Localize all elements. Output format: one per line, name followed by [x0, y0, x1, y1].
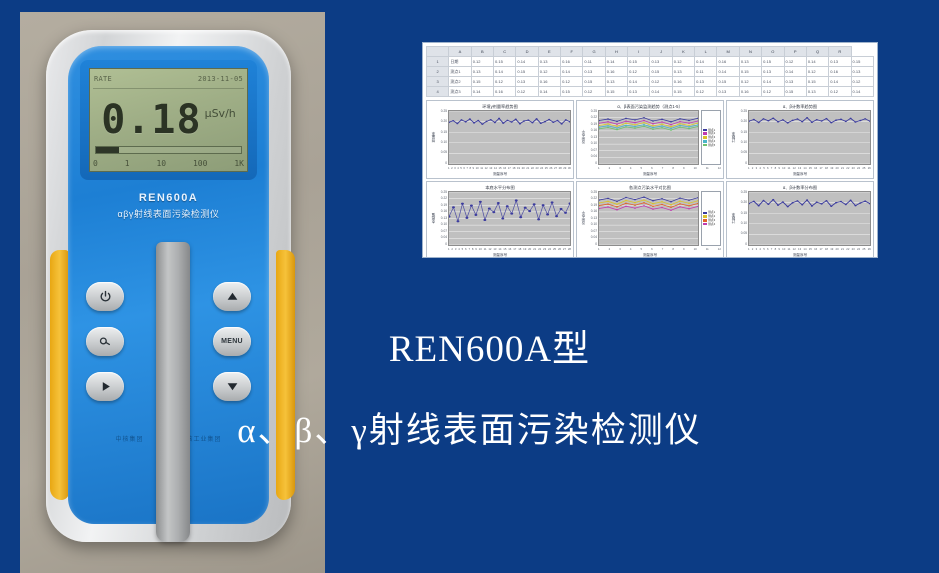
table-cell[interactable]: 0.16	[538, 77, 560, 87]
data-point	[772, 199, 774, 201]
table-cell[interactable]: 0.15	[739, 67, 761, 77]
table-cell[interactable]: 0.16	[739, 87, 761, 97]
data-point	[679, 203, 681, 205]
device-photo: RATE 2013-11-05 0.18 μSv/h 0 1 10 100 1K	[20, 12, 325, 573]
chart-panel-chart-3[interactable]: α、β计数率趋势图计数率0.250.200.150.100.0501234567…	[726, 100, 874, 179]
data-point	[607, 125, 609, 127]
y-tick-label: 0.05	[436, 151, 447, 154]
table-cell[interactable]: 0.12	[583, 87, 605, 97]
data-point	[840, 201, 842, 203]
power-icon	[99, 290, 112, 303]
series-line	[749, 200, 870, 207]
table-cell[interactable]: 0.15	[628, 57, 650, 67]
table-cell[interactable]: 0.12	[784, 57, 806, 67]
data-point	[616, 121, 618, 123]
plot-area[interactable]	[448, 110, 571, 165]
data-point	[688, 126, 690, 128]
series-line	[599, 206, 698, 210]
y-tick-label: 0.16	[436, 210, 447, 213]
data-point	[544, 121, 546, 123]
table-cell[interactable]: 0.15	[672, 87, 694, 97]
lcd-scale-tick: 1	[125, 159, 130, 168]
data-point	[652, 128, 654, 130]
table-cell[interactable]: 0.15	[471, 77, 493, 87]
table-cell[interactable]: 测点1	[449, 67, 471, 77]
y-tick-label: 0.20	[436, 120, 447, 123]
data-point	[661, 201, 663, 203]
lcd-scale-tick: 10	[156, 159, 166, 168]
data-point	[540, 123, 542, 125]
table-cell[interactable]: 0.12	[516, 87, 538, 97]
data-point	[688, 208, 690, 210]
y-tick-label: 0.13	[586, 136, 597, 139]
column-header[interactable]: H	[605, 47, 627, 57]
page-title-model: REN600A型	[40, 318, 939, 372]
table-cell[interactable]: 0.14	[806, 57, 828, 67]
column-header[interactable]: B	[471, 47, 493, 57]
table-cell[interactable]: 0.13	[695, 77, 717, 87]
lcd-status-bar: RATE 2013-11-05	[94, 72, 243, 85]
table-cell[interactable]: 0.14	[605, 57, 627, 67]
data-point	[688, 124, 690, 126]
y-axis-title: 剂量率	[429, 110, 436, 165]
table-cell[interactable]: 0.15	[806, 77, 828, 87]
analysis-software-panel: ABCDEFGHIJKLMNOPQR 1日期0.120.150.140.130.…	[422, 42, 878, 258]
y-axis-ticks: 0.250.200.150.100.050	[436, 110, 448, 165]
table-cell[interactable]: 0.13	[628, 87, 650, 97]
y-tick-label: 0.25	[436, 191, 447, 194]
data-point	[506, 120, 508, 122]
data-point	[679, 197, 681, 199]
column-header[interactable]: O	[762, 47, 784, 57]
y-tick-label: 0.07	[436, 230, 447, 233]
table-cell[interactable]: 日期	[449, 57, 471, 67]
table-cell[interactable]: 0.13	[471, 67, 493, 77]
y-tick-label: 0.25	[436, 110, 447, 113]
nameplate-model: REN600A	[68, 192, 269, 204]
y-tick-label: 0.19	[586, 204, 597, 207]
y-tick-label: 0.20	[736, 120, 747, 123]
table-cell[interactable]: 0.14	[851, 87, 873, 97]
table-cell[interactable]: 0.14	[471, 87, 493, 97]
table-cell[interactable]: 0.14	[538, 87, 560, 97]
table-cell[interactable]: 0.16	[605, 67, 627, 77]
data-point	[811, 121, 813, 123]
column-header[interactable]: J	[650, 47, 672, 57]
chart-legend: 测点1测点2测点3测点4	[701, 191, 721, 246]
table-cell[interactable]: 0.14	[650, 87, 672, 97]
data-point	[599, 120, 600, 122]
data-point	[782, 201, 784, 203]
legend-item[interactable]: 测点4	[703, 223, 719, 226]
y-axis-title: 污染水平	[579, 110, 586, 165]
table-cell[interactable]: 0.11	[695, 67, 717, 77]
data-point	[670, 128, 672, 130]
data-point	[561, 123, 563, 125]
y-tick-label: 0.04	[436, 236, 447, 239]
table-cell[interactable]: 0.14	[762, 77, 784, 87]
y-tick-label: 0.16	[586, 210, 597, 213]
y-tick-label: 0.22	[586, 116, 597, 119]
table-cell[interactable]: 0.12	[628, 67, 650, 77]
data-point	[465, 217, 468, 219]
y-tick-label: 0.15	[736, 212, 747, 215]
table-cell[interactable]: 0.15	[583, 77, 605, 87]
column-header[interactable]: C	[494, 47, 516, 57]
data-point	[479, 201, 482, 203]
y-axis-ticks: 0.250.220.190.160.130.100.070.040	[586, 191, 598, 246]
data-point	[449, 216, 450, 218]
table-cell[interactable]: 0.16	[717, 57, 739, 67]
data-point	[474, 214, 477, 216]
table-cell[interactable]: 0.15	[717, 77, 739, 87]
legend-swatch-icon	[703, 136, 707, 139]
y-tick-label: 0.04	[586, 236, 597, 239]
y-tick-label: 0.19	[436, 204, 447, 207]
data-point	[599, 126, 600, 128]
legend-item[interactable]: 测点5	[703, 144, 719, 147]
data-point	[816, 119, 818, 121]
table-cell[interactable]: 0.15	[784, 87, 806, 97]
data-point	[560, 208, 563, 210]
table-cell[interactable]: 0.12	[561, 77, 583, 87]
data-point	[753, 201, 755, 203]
lcd-bargraph-fill	[96, 147, 119, 153]
column-header[interactable]: R	[829, 47, 851, 57]
plot-area[interactable]	[748, 110, 871, 165]
y-tick-label: 0.20	[736, 201, 747, 204]
data-point	[461, 203, 464, 205]
column-header[interactable]: K	[672, 47, 694, 57]
data-point	[670, 124, 672, 126]
data-point	[679, 118, 681, 120]
y-tick-label: 0.05	[736, 151, 747, 154]
y-axis-title: 污染水平	[579, 191, 586, 246]
data-point	[787, 206, 789, 208]
y-tick-label: 0.13	[436, 217, 447, 220]
data-point	[652, 200, 654, 202]
data-point	[782, 119, 784, 121]
data-point	[542, 204, 545, 206]
table-cell[interactable]: 测点2	[449, 77, 471, 87]
legend-swatch-icon	[703, 129, 707, 132]
y-axis-title: 计数率	[729, 191, 736, 246]
lcd-mode-label: RATE	[94, 75, 112, 83]
data-point	[460, 119, 462, 121]
data-point	[679, 126, 681, 128]
row-header[interactable]: 2	[427, 67, 449, 77]
table-cell[interactable]: 0.12	[829, 87, 851, 97]
table-cell[interactable]: 0.15	[851, 57, 873, 67]
table-cell[interactable]: 0.13	[672, 67, 694, 77]
series-line	[599, 200, 698, 205]
data-point	[486, 121, 488, 123]
data-point	[616, 123, 618, 125]
table-cell[interactable]: 0.14	[695, 57, 717, 67]
table-cell[interactable]: 0.14	[628, 77, 650, 87]
chart-title: α、β计数率趋势图	[729, 103, 871, 110]
column-header[interactable]: M	[717, 47, 739, 57]
table-cell[interactable]: 0.15	[650, 67, 672, 77]
corner-cell[interactable]	[427, 47, 449, 57]
data-point	[528, 210, 531, 212]
data-point	[515, 199, 518, 201]
data-point	[801, 204, 803, 206]
data-point	[625, 120, 627, 122]
y-axis-title: 本底值	[429, 191, 436, 246]
column-header[interactable]: I	[628, 47, 650, 57]
data-point	[670, 209, 672, 211]
table-cell[interactable]: 0.16	[829, 67, 851, 77]
table-cell[interactable]: 0.12	[695, 87, 717, 97]
table-cell[interactable]: 0.12	[538, 67, 560, 77]
data-point	[679, 125, 681, 127]
data-point	[625, 200, 627, 202]
y-tick-label: 0.13	[586, 217, 597, 220]
data-point	[506, 205, 509, 207]
table-cell[interactable]: 0.13	[516, 77, 538, 87]
data-point	[599, 123, 600, 125]
chart-panel-chart-4[interactable]: 本底水平分布图本底值0.250.220.190.160.130.100.070.…	[426, 181, 574, 258]
row-header[interactable]: 3	[427, 77, 449, 87]
y-axis-ticks: 0.250.220.190.160.130.100.070.040	[436, 191, 448, 246]
table-cell[interactable]: 0.14	[494, 67, 516, 77]
x-axis-title: 测量序号	[729, 171, 871, 177]
data-point	[688, 200, 690, 202]
table-cell[interactable]: 0.13	[650, 57, 672, 67]
table-cell[interactable]: 0.15	[516, 67, 538, 77]
column-header[interactable]: P	[784, 47, 806, 57]
data-point	[465, 121, 467, 123]
data-point	[661, 123, 663, 125]
table-row: 4测点30.140.160.120.140.150.120.150.130.14…	[427, 87, 874, 97]
data-point	[488, 207, 491, 209]
data-point	[661, 121, 663, 123]
nameplate-chinese: αβγ射线表面污染检测仪	[68, 207, 269, 220]
chart-title: α、β计数率分布图	[729, 184, 871, 191]
table-cell[interactable]: 0.13	[583, 67, 605, 77]
table-cell[interactable]: 0.16	[672, 77, 694, 87]
data-point	[501, 217, 504, 219]
data-point	[688, 120, 690, 122]
chart-panel-chart-6[interactable]: α、β计数率分布图计数率0.250.200.150.100.0501234567…	[726, 181, 874, 258]
table-cell[interactable]: 0.15	[605, 87, 627, 97]
table-cell[interactable]: 0.14	[516, 57, 538, 67]
y-tick-label: 0.04	[586, 155, 597, 158]
series-line	[599, 197, 698, 202]
data-point	[523, 120, 525, 122]
data-point	[652, 208, 654, 210]
lcd-unit: μSv/h	[205, 107, 236, 120]
legend-swatch-icon	[703, 215, 707, 218]
data-point	[481, 123, 483, 125]
y-tick-label: 0.10	[436, 141, 447, 144]
data-point	[859, 202, 861, 204]
plot-area[interactable]	[598, 110, 699, 165]
data-point	[840, 119, 842, 121]
y-tick-label: 0.07	[586, 149, 597, 152]
data-point	[519, 216, 522, 218]
data-point	[498, 118, 500, 120]
chart-panel-chart-1[interactable]: 环境γ剂量率趋势图剂量率0.250.200.150.100.0501234567…	[426, 100, 574, 179]
data-point	[470, 205, 473, 207]
table-cell[interactable]: 0.13	[784, 77, 806, 87]
x-axis-title: 测量序号	[429, 252, 571, 258]
column-header[interactable]: E	[538, 47, 560, 57]
chart-panel-chart-2[interactable]: α、β表面污染监测趋势（测点1-5）污染水平0.250.220.190.160.…	[576, 100, 724, 179]
chart-title: α、β表面污染监测趋势（测点1-5）	[579, 103, 721, 110]
data-point	[854, 205, 856, 207]
data-point	[688, 122, 690, 124]
page-title-description: α、β、γ射线表面污染检测仪	[0, 402, 939, 453]
plot-area[interactable]	[448, 191, 571, 246]
data-point	[806, 117, 808, 119]
data-point	[494, 122, 496, 124]
data-point	[670, 129, 672, 131]
device-nameplate: REN600A αβγ射线表面污染检测仪	[68, 192, 269, 220]
table-cell[interactable]: 0.16	[561, 57, 583, 67]
table-cell[interactable]: 0.12	[762, 87, 784, 97]
table-cell[interactable]: 0.15	[762, 57, 784, 67]
y-tick-label: 0.25	[586, 191, 597, 194]
table-row: 3测点20.150.120.130.160.120.150.130.140.12…	[427, 77, 874, 87]
table-cell[interactable]: 0.12	[672, 57, 694, 67]
data-point	[634, 207, 636, 209]
data-point	[502, 122, 504, 124]
table-cell[interactable]: 0.13	[806, 87, 828, 97]
data-point	[625, 123, 627, 125]
chart-panel-chart-5[interactable]: 各测点污染水平对比图污染水平0.250.220.190.160.130.100.…	[576, 181, 724, 258]
data-point	[634, 202, 636, 204]
column-header[interactable]: D	[516, 47, 538, 57]
up-button[interactable]	[213, 282, 251, 311]
y-axis-ticks: 0.250.220.190.160.130.100.070.040	[586, 110, 598, 165]
data-point	[688, 202, 690, 204]
y-tick-label: 0.10	[586, 142, 597, 145]
row-header[interactable]: 4	[427, 87, 449, 97]
data-sheet-table: ABCDEFGHIJKLMNOPQR 1日期0.120.150.140.130.…	[426, 46, 874, 97]
row-header[interactable]: 1	[427, 57, 449, 67]
table-cell[interactable]: 0.14	[717, 67, 739, 77]
column-header[interactable]: Q	[806, 47, 828, 57]
data-point	[850, 200, 852, 202]
data-point	[634, 119, 636, 121]
table-cell[interactable]: 0.12	[851, 77, 873, 87]
power-button[interactable]	[86, 282, 124, 311]
data-point	[661, 119, 663, 121]
data-point	[531, 122, 533, 124]
column-header[interactable]: F	[561, 47, 583, 57]
data-point	[643, 122, 645, 124]
table-cell[interactable]: 0.13	[717, 87, 739, 97]
lcd-reading: 0.18 μSv/h	[90, 91, 247, 149]
table-cell[interactable]: 0.13	[762, 67, 784, 77]
table-cell[interactable]: 测点3	[449, 87, 471, 97]
data-point	[772, 117, 774, 119]
data-point	[854, 121, 856, 123]
data-point	[551, 201, 554, 203]
table-cell[interactable]: 0.14	[784, 67, 806, 77]
data-point	[670, 121, 672, 123]
data-point	[511, 121, 513, 123]
table-cell[interactable]: 0.11	[583, 57, 605, 67]
table-cell[interactable]: 0.13	[605, 77, 627, 87]
data-point	[537, 218, 540, 220]
data-point	[850, 118, 852, 120]
data-point	[758, 205, 760, 207]
data-point	[777, 204, 779, 206]
data-point	[821, 203, 823, 205]
column-header[interactable]: G	[583, 47, 605, 57]
table-cell[interactable]: 0.12	[650, 77, 672, 87]
data-point	[835, 119, 837, 121]
table-cell[interactable]: 0.15	[494, 57, 516, 67]
lcd-value: 0.18	[101, 100, 201, 140]
column-header[interactable]: L	[695, 47, 717, 57]
column-header[interactable]: A	[449, 47, 471, 57]
data-point	[830, 122, 832, 124]
plot-area[interactable]	[598, 191, 699, 246]
data-point	[679, 200, 681, 202]
legend-swatch-icon	[703, 219, 707, 222]
table-cell[interactable]: 0.14	[829, 77, 851, 87]
plot-area[interactable]	[748, 191, 871, 246]
table-cell[interactable]: 0.14	[561, 67, 583, 77]
data-point	[546, 213, 549, 215]
data-point	[679, 206, 681, 208]
data-point	[679, 123, 681, 125]
legend-label: 测点5	[708, 144, 715, 147]
chart-legend: 测点1测点2测点3测点4测点5	[701, 110, 721, 165]
column-header[interactable]: N	[739, 47, 761, 57]
data-point	[661, 125, 663, 127]
data-point	[519, 123, 521, 125]
data-point	[625, 126, 627, 128]
table-cell[interactable]: 0.13	[851, 67, 873, 77]
y-tick-label: 0.10	[736, 222, 747, 225]
data-point	[835, 202, 837, 204]
data-point	[607, 118, 609, 120]
table-cell[interactable]: 0.12	[806, 67, 828, 77]
data-point	[634, 204, 636, 206]
data-point	[796, 200, 798, 202]
table-cell[interactable]: 0.12	[471, 57, 493, 67]
table-cell[interactable]: 0.15	[561, 87, 583, 97]
table-cell[interactable]: 0.13	[538, 57, 560, 67]
data-point	[616, 129, 618, 131]
table-cell[interactable]: 0.13	[829, 57, 851, 67]
data-point	[792, 120, 794, 122]
data-point	[483, 219, 486, 221]
table-cell[interactable]: 0.12	[494, 77, 516, 87]
data-point	[661, 127, 663, 129]
data-point	[688, 128, 690, 130]
table-cell[interactable]: 0.12	[739, 77, 761, 87]
data-point	[661, 207, 663, 209]
data-point	[569, 202, 570, 204]
table-cell[interactable]: 0.13	[739, 57, 761, 67]
lcd-bargraph	[95, 146, 242, 154]
data-point	[830, 205, 832, 207]
data-point	[864, 118, 866, 120]
data-point	[652, 123, 654, 125]
y-tick-label: 0.25	[736, 191, 747, 194]
data-point	[821, 120, 823, 122]
data-point	[787, 122, 789, 124]
data-point	[643, 199, 645, 201]
x-axis-title: 测量序号	[729, 252, 871, 258]
table-cell[interactable]: 0.16	[494, 87, 516, 97]
